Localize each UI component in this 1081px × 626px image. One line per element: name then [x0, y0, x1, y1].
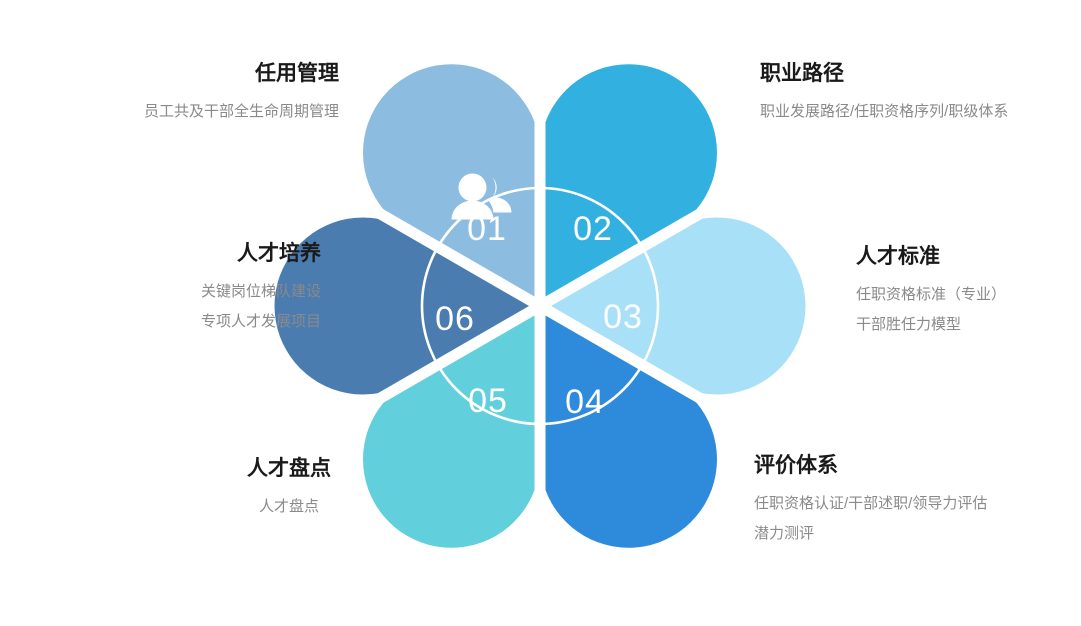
petal-subtitle-05-line-1: 人才盘点: [247, 492, 331, 521]
petal-title-04: 评价体系: [754, 452, 987, 480]
petal-number-04: 04: [565, 383, 605, 421]
petal-number-03: 03: [603, 298, 643, 336]
petal-subtitle-04-line-1: 任职资格认证/干部述职/领导力评估: [754, 489, 987, 518]
petal-title-06: 人才培养: [201, 240, 321, 268]
petal-number-02: 02: [573, 210, 613, 248]
petal-label-01: 任用管理 员工共及干部全生命周期管理: [144, 60, 339, 127]
infographic-canvas: 01 02 03 04 05 06 任用管理 员工共及干部全生命周期管理 职业路…: [0, 0, 1081, 626]
petal-number-06: 06: [435, 300, 475, 338]
petal-label-04: 评价体系 任职资格认证/干部述职/领导力评估 潜力测评: [754, 452, 987, 548]
petal-number-01: 01: [467, 210, 507, 248]
petal-subtitle-03-line-1: 任职资格标准（专业）: [856, 280, 1006, 309]
petal-title-02: 职业路径: [760, 60, 1008, 88]
petal-label-06: 人才培养 关键岗位梯队建设 专项人才发展项目: [201, 240, 321, 336]
petal-title-05: 人才盘点: [247, 455, 331, 483]
petal-label-05: 人才盘点 人才盘点: [247, 455, 331, 522]
petal-title-01: 任用管理: [144, 60, 339, 88]
petal-subtitle-02-line-1: 职业发展路径/任职资格序列/职级体系: [760, 97, 1008, 126]
petal-number-05: 05: [468, 382, 508, 420]
petal-subtitle-03-line-2: 干部胜任力模型: [856, 310, 1006, 339]
petal-title-03: 人才标准: [856, 243, 1006, 271]
petal-label-03: 人才标准 任职资格标准（专业） 干部胜任力模型: [856, 243, 1006, 339]
petal-subtitle-04-line-2: 潜力测评: [754, 519, 987, 548]
petal-label-02: 职业路径 职业发展路径/任职资格序列/职级体系: [760, 60, 1008, 127]
petal-subtitle-06-line-2: 专项人才发展项目: [201, 307, 321, 336]
petal-subtitle-01-line-1: 员工共及干部全生命周期管理: [144, 97, 339, 126]
petal-subtitle-06-line-1: 关键岗位梯队建设: [201, 277, 321, 306]
